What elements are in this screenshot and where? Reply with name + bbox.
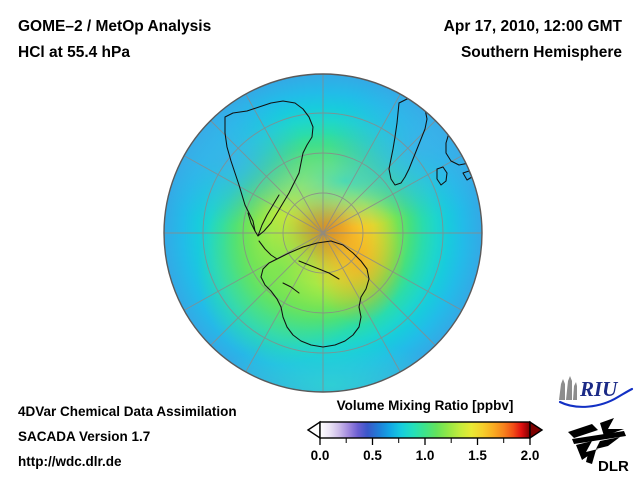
colorbar-scale — [306, 420, 544, 446]
colorbar-tick-labels: 0.0 0.5 1.0 1.5 2.0 — [306, 448, 544, 468]
dlr-wordmark: DLR — [598, 458, 629, 474]
method-label: 4DVar Chemical Data Assimilation — [18, 404, 237, 419]
colorbar-extend-max-icon — [530, 422, 542, 438]
riu-wordmark: RIU — [579, 377, 619, 401]
colorbar-tick-2: 1.0 — [416, 448, 435, 463]
colorbar: Volume Mixing Ratio [ppbv] — [306, 398, 544, 474]
colorbar-tick-4: 2.0 — [521, 448, 540, 463]
globe-map — [163, 73, 483, 393]
website-link[interactable]: http://wdc.dlr.de — [18, 454, 122, 469]
colorbar-title: Volume Mixing Ratio [ppbv] — [306, 398, 544, 413]
riu-towers-icon — [559, 376, 577, 400]
region-label: Southern Hemisphere — [461, 44, 622, 62]
species-level-label: HCl at 55.4 hPa — [18, 44, 130, 62]
colorbar-tick-0: 0.0 — [311, 448, 330, 463]
datetime-label: Apr 17, 2010, 12:00 GMT — [444, 18, 622, 36]
graticule — [164, 74, 482, 392]
page-title: GOME–2 / MetOp Analysis — [18, 18, 211, 36]
colorbar-tick-1: 0.5 — [363, 448, 382, 463]
version-label: SACADA Version 1.7 — [18, 429, 150, 444]
figure-root: GOME–2 / MetOp Analysis HCl at 55.4 hPa … — [0, 0, 640, 480]
colorbar-tick-3: 1.5 — [468, 448, 487, 463]
colorbar-extend-min-icon — [308, 422, 320, 438]
riu-logo: RIU — [556, 374, 636, 408]
dlr-logo: DLR — [562, 414, 634, 474]
